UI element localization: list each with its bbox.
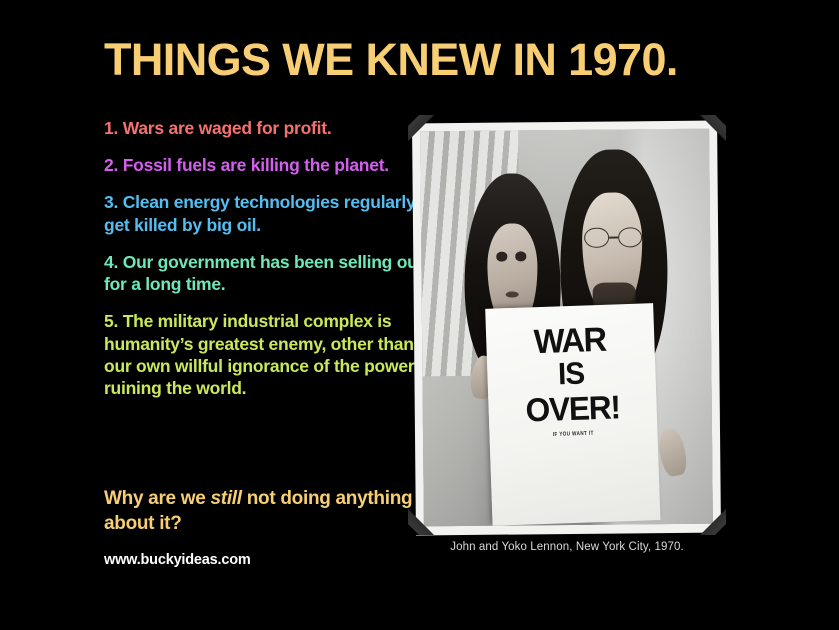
glasses-lens-left	[584, 227, 608, 248]
sign-line-1: WAR	[534, 325, 607, 358]
sign-line-3: OVER!	[525, 390, 620, 427]
closing-question: Why are we still not doing anything abou…	[104, 487, 434, 536]
sign-fine-print: IF YOU WANT IT	[553, 430, 594, 438]
photo-caption: John and Yoko Lennon, New York City, 197…	[408, 541, 726, 553]
closing-part1: Why are we	[104, 488, 211, 509]
closing-emphasis: still	[211, 488, 242, 509]
hand-right	[656, 427, 689, 478]
photo-block: WAR IS OVER! IF YOU WANT IT	[408, 115, 726, 535]
photo-image: WAR IS OVER! IF YOU WANT IT	[420, 129, 713, 527]
glasses-bridge	[609, 236, 618, 238]
yoko-eye-right	[515, 252, 527, 261]
round-glasses-icon	[584, 227, 642, 248]
sign-line-2: IS	[558, 356, 585, 392]
glasses-lens-right	[618, 227, 642, 248]
website-url[interactable]: www.buckyideas.com	[104, 552, 251, 568]
list-item: 2. Fossil fuels are killing the planet.	[104, 154, 424, 176]
photo-frame: WAR IS OVER! IF YOU WANT IT	[412, 121, 721, 536]
page-title: THINGS WE KNEW IN 1970.	[104, 36, 678, 83]
protest-sign: WAR IS OVER! IF YOU WANT IT	[486, 303, 661, 526]
list-item: 3. Clean energy technologies regularly g…	[104, 191, 424, 235]
slide-canvas: THINGS WE KNEW IN 1970. 1. Wars are wage…	[0, 0, 839, 630]
yoko-mouth	[506, 291, 518, 297]
list-item: 1. Wars are waged for profit.	[104, 117, 424, 139]
statements-list: 1. Wars are waged for profit. 2. Fossil …	[104, 117, 424, 399]
list-item: 5. The military industrial complex is hu…	[104, 310, 424, 399]
list-item: 4. Our government has been selling out f…	[104, 251, 424, 295]
yoko-eye-left	[496, 252, 508, 261]
